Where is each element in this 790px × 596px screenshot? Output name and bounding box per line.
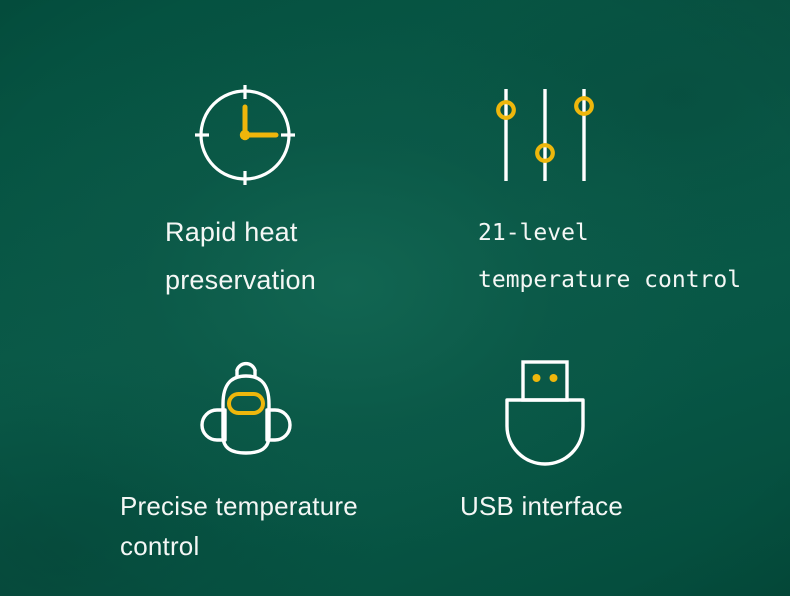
feature-label-precise-temperature-control: Precise temperature control <box>120 486 358 567</box>
usb-drive-icon <box>495 348 595 466</box>
clock-icon <box>190 80 300 190</box>
feature-grid: Rapid heat preservation 21-level tempera… <box>0 0 790 596</box>
feature-card-21-level-temperature-control: 21-level temperature control <box>395 0 790 298</box>
feature-label-21-level-temperature-control: 21-level temperature control <box>478 210 741 305</box>
feature-card-precise-temperature-control: Precise temperature control <box>0 298 395 596</box>
feature-label-rapid-heat-preservation: Rapid heat preservation <box>165 208 316 304</box>
feature-card-usb-interface: USB interface <box>395 298 790 596</box>
feature-highlights-panel: Rapid heat preservation 21-level tempera… <box>0 0 790 596</box>
sliders-icon <box>490 80 600 190</box>
backpack-icon <box>187 348 305 466</box>
feature-label-usb-interface: USB interface <box>460 486 623 526</box>
feature-card-rapid-heat-preservation: Rapid heat preservation <box>0 0 395 298</box>
